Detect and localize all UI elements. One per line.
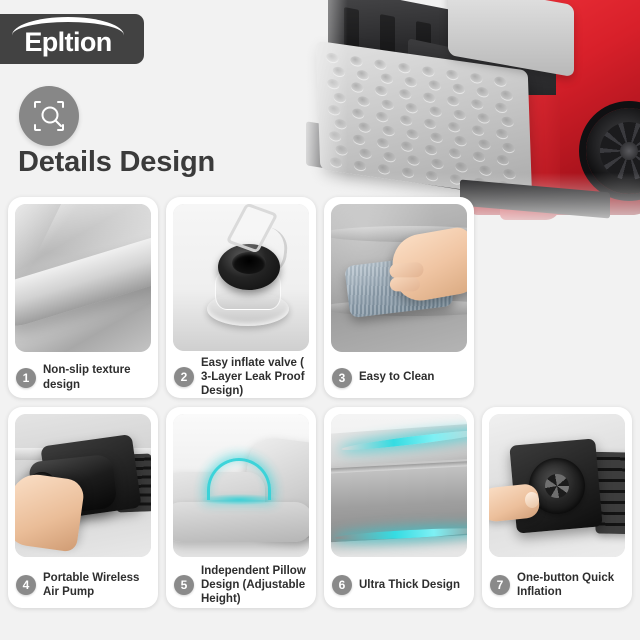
mattress-tuft bbox=[398, 62, 410, 73]
mattress-tuft bbox=[496, 128, 508, 139]
mattress-tuft bbox=[399, 88, 411, 99]
mattress-tuft bbox=[382, 99, 394, 110]
mattress-tuft bbox=[353, 134, 365, 145]
mattress-tuft bbox=[448, 121, 460, 132]
scan-inspect-icon bbox=[19, 86, 79, 146]
mattress-tuft bbox=[425, 144, 437, 155]
feature-number-badge: 5 bbox=[174, 575, 194, 595]
mattress-tuft bbox=[376, 111, 388, 122]
mattress-tuft bbox=[501, 116, 513, 127]
feature-label-7: 7 One-button Quick Inflation bbox=[482, 557, 632, 608]
feature-number-badge: 3 bbox=[332, 368, 352, 388]
feature-label-4: 4 Portable Wireless Air Pump bbox=[8, 557, 158, 608]
feature-number-badge: 1 bbox=[16, 368, 36, 388]
mattress-tuft bbox=[503, 168, 515, 179]
mattress-tuft bbox=[328, 104, 340, 115]
mattress-tuft bbox=[329, 131, 341, 142]
mattress-tuft bbox=[449, 148, 461, 159]
feature-row-top: 1 Non-slip texture design 2 Easy inflate… bbox=[0, 197, 640, 398]
mattress-tuft bbox=[406, 129, 418, 140]
feature-label-text: Non-slip texture design bbox=[43, 363, 151, 391]
inflate-valve-photo bbox=[173, 204, 309, 351]
feature-label-text: One-button Quick Inflation bbox=[517, 571, 625, 599]
mattress-tuft bbox=[471, 99, 483, 110]
mattress-tuft bbox=[426, 170, 438, 181]
feature-label-text: Ultra Thick Design bbox=[359, 578, 460, 592]
mattress-tuft bbox=[453, 83, 465, 94]
mattress-tuft bbox=[378, 163, 390, 174]
feature-card-2[interactable]: 2 Easy inflate valve ( 3-Layer Leak Proo… bbox=[166, 197, 316, 398]
mattress-tuft bbox=[326, 52, 338, 63]
mattress-tuft bbox=[477, 86, 489, 97]
brand-name: Epltion bbox=[0, 27, 144, 58]
mattress-tuft bbox=[455, 161, 467, 172]
feature-number-badge: 4 bbox=[16, 575, 36, 595]
mattress-tuft bbox=[453, 109, 465, 120]
mattress-tuft bbox=[477, 113, 489, 124]
feature-label-1: 1 Non-slip texture design bbox=[8, 352, 158, 398]
mattress-tuft bbox=[447, 95, 459, 106]
mattress-tuft bbox=[407, 155, 419, 166]
mattress-tuft bbox=[429, 106, 441, 117]
mattress-tuft bbox=[381, 73, 393, 84]
feature-number-badge: 2 bbox=[174, 367, 194, 387]
feature-card-7[interactable]: 7 One-button Quick Inflation bbox=[482, 407, 632, 608]
feature-grid: 1 Non-slip texture design 2 Easy inflate… bbox=[0, 197, 640, 617]
mattress-tuft bbox=[334, 118, 346, 129]
mattress-tuft bbox=[473, 151, 485, 162]
feature-label-5: 5 Independent Pillow Design (Adjustable … bbox=[166, 557, 316, 608]
mattress-tuft bbox=[358, 96, 370, 107]
mattress-tuft bbox=[472, 125, 484, 136]
page-title: Details Design bbox=[18, 146, 215, 179]
feature-label-text: Easy to Clean bbox=[359, 370, 434, 384]
mattress-tuft bbox=[333, 66, 345, 77]
mattress-tuft bbox=[350, 56, 362, 67]
feature-label-3: 3 Easy to Clean bbox=[324, 352, 474, 398]
mattress-tuft bbox=[501, 90, 513, 101]
mattress-tuft bbox=[382, 125, 394, 136]
wireless-air-pump-photo bbox=[15, 414, 151, 557]
feature-label-text: Portable Wireless Air Pump bbox=[43, 571, 151, 599]
mattress-tuft bbox=[359, 148, 371, 159]
hand bbox=[15, 471, 86, 552]
mattress-tuft bbox=[422, 66, 434, 77]
mattress-tuft bbox=[354, 160, 366, 171]
mattress-tuft bbox=[424, 118, 436, 129]
feature-number-badge: 7 bbox=[490, 575, 510, 595]
mattress-tuft bbox=[358, 122, 370, 133]
mattress-tuft bbox=[405, 76, 417, 87]
mattress-tuft bbox=[431, 158, 443, 169]
feature-label-text: Independent Pillow Design (Adjustable He… bbox=[201, 564, 309, 606]
mattress-tuft bbox=[405, 102, 417, 113]
mattress-tuft bbox=[383, 151, 395, 162]
mattress-tuft bbox=[478, 139, 490, 150]
feature-card-6[interactable]: 6 Ultra Thick Design bbox=[324, 407, 474, 608]
built-in-pump-photo bbox=[489, 414, 625, 557]
feature-card-3[interactable]: 3 Easy to Clean bbox=[324, 197, 474, 398]
mattress-tuft bbox=[494, 76, 506, 87]
feature-row-bottom: 4 Portable Wireless Air Pump 5 Independe… bbox=[0, 407, 640, 608]
mattress-tuft bbox=[351, 82, 363, 93]
wiping-cloth-photo bbox=[331, 204, 467, 352]
mattress-tuft bbox=[446, 69, 458, 80]
mattress-tuft bbox=[375, 85, 387, 96]
mattress-tuft bbox=[454, 135, 466, 146]
mattress-tuft bbox=[502, 142, 514, 153]
mattress-tuft bbox=[377, 137, 389, 148]
mattress-tuft bbox=[374, 59, 386, 70]
mattress-thickness-photo bbox=[331, 414, 467, 557]
feature-label-2: 2 Easy inflate valve ( 3-Layer Leak Proo… bbox=[166, 351, 316, 398]
mattress-tuft bbox=[330, 157, 342, 168]
feature-number-badge: 6 bbox=[332, 575, 352, 595]
feature-card-4[interactable]: 4 Portable Wireless Air Pump bbox=[8, 407, 158, 608]
mattress-tuft bbox=[401, 141, 413, 152]
feature-label-text: Easy inflate valve ( 3-Layer Leak Proof … bbox=[201, 356, 309, 398]
mattress-tuft bbox=[335, 144, 347, 155]
mattress-tuft bbox=[470, 72, 482, 83]
mattress-tuft bbox=[334, 92, 346, 103]
flocked-fabric-photo bbox=[15, 204, 151, 352]
feature-card-5[interactable]: 5 Independent Pillow Design (Adjustable … bbox=[166, 407, 316, 608]
mattress-tuft bbox=[357, 69, 369, 80]
mattress-tuft bbox=[423, 92, 435, 103]
mattress-tuft bbox=[497, 154, 509, 165]
brand-logo: Epltion bbox=[0, 14, 144, 64]
mattress-tuft bbox=[352, 108, 364, 119]
mattress-tuft bbox=[402, 167, 414, 178]
independent-pillow-photo bbox=[173, 414, 309, 557]
mattress-tuft bbox=[327, 78, 339, 89]
feature-label-6: 6 Ultra Thick Design bbox=[324, 557, 474, 608]
mattress-tuft bbox=[430, 132, 442, 143]
mattress-tuft bbox=[495, 102, 507, 113]
mattress-tuft bbox=[400, 115, 412, 126]
feature-card-1[interactable]: 1 Non-slip texture design bbox=[8, 197, 158, 398]
mattress-tuft bbox=[479, 165, 491, 176]
mattress-tuft bbox=[429, 80, 441, 91]
